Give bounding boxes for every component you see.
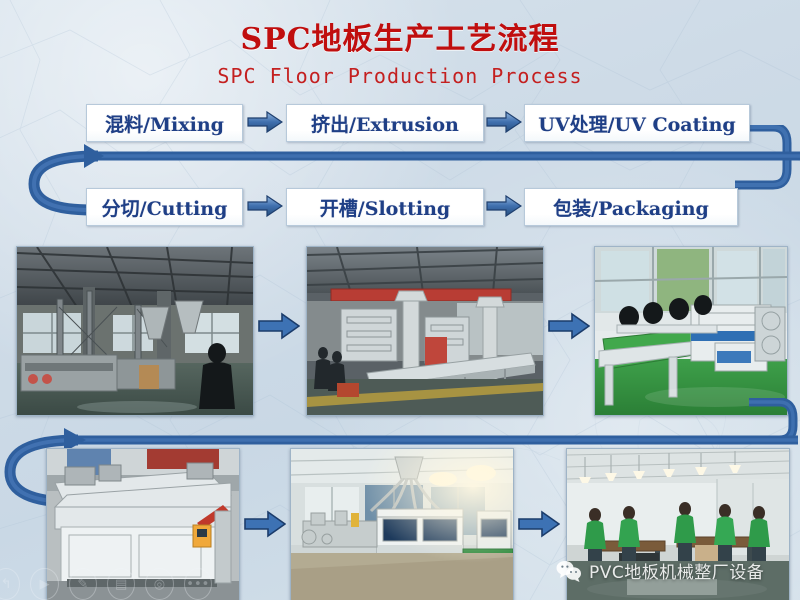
process-box-mixing-label: 混料/Mixing [105, 110, 224, 137]
process-box-slotting-label: 开槽/Slotting [320, 194, 450, 221]
qr-button[interactable]: ▤ [107, 568, 135, 600]
title-block: SPC地板生产工艺流程 SPC Floor Production Process [0, 14, 800, 88]
right-arrow-icon-photo-mixing-to-extrusion [258, 312, 300, 340]
right-arrow-icon-photo-cutting-to-slotting [244, 510, 286, 538]
process-box-uv-coating-label: UV处理/UV Coating [538, 110, 735, 137]
process-box-packaging[interactable]: 包装/Packaging [524, 188, 738, 226]
process-box-extrusion-label: 挤出/Extrusion [311, 110, 459, 137]
process-box-slotting[interactable]: 开槽/Slotting [286, 188, 484, 226]
photo-extrusion [306, 246, 544, 416]
player-control-bar[interactable]: ↰ ▶ ✎ ▤ ◎ ••• [0, 562, 212, 600]
photo-slotting [290, 448, 514, 600]
process-box-extrusion[interactable]: 挤出/Extrusion [286, 104, 484, 142]
photo-mixing [16, 246, 254, 416]
right-arrow-icon-photo-slotting-to-packaging [518, 510, 560, 538]
camera-button[interactable]: ◎ [145, 568, 173, 600]
process-box-cutting-label: 分切/Cutting [102, 194, 228, 221]
page-title-chinese: SPC地板生产工艺流程 [0, 14, 800, 58]
right-arrow-icon-extrusion-to-uv [486, 110, 522, 134]
photo-uv-coating [594, 246, 788, 416]
slide-canvas: SPC地板生产工艺流程 SPC Floor Production Process… [0, 0, 800, 600]
process-box-mixing[interactable]: 混料/Mixing [86, 104, 243, 142]
process-box-uv-coating[interactable]: UV处理/UV Coating [524, 104, 750, 142]
back-button[interactable]: ↰ [0, 568, 20, 600]
right-arrow-icon-photo-extrusion-to-uv [548, 312, 590, 340]
process-box-packaging-label: 包装/Packaging [553, 194, 709, 221]
edit-button[interactable]: ✎ [69, 568, 97, 600]
process-box-cutting[interactable]: 分切/Cutting [86, 188, 243, 226]
right-arrow-icon-mixing-to-extrusion [247, 110, 283, 134]
photo-packaging [566, 448, 790, 600]
play-button[interactable]: ▶ [30, 568, 58, 600]
connector-photorow-horizontal [38, 430, 798, 450]
right-arrow-icon-slotting-to-packaging [486, 194, 522, 218]
more-button[interactable]: ••• [184, 568, 212, 600]
page-title-english: SPC Floor Production Process [0, 64, 800, 88]
right-arrow-icon-cutting-to-slotting [247, 194, 283, 218]
connector-row1-horizontal [40, 146, 800, 166]
